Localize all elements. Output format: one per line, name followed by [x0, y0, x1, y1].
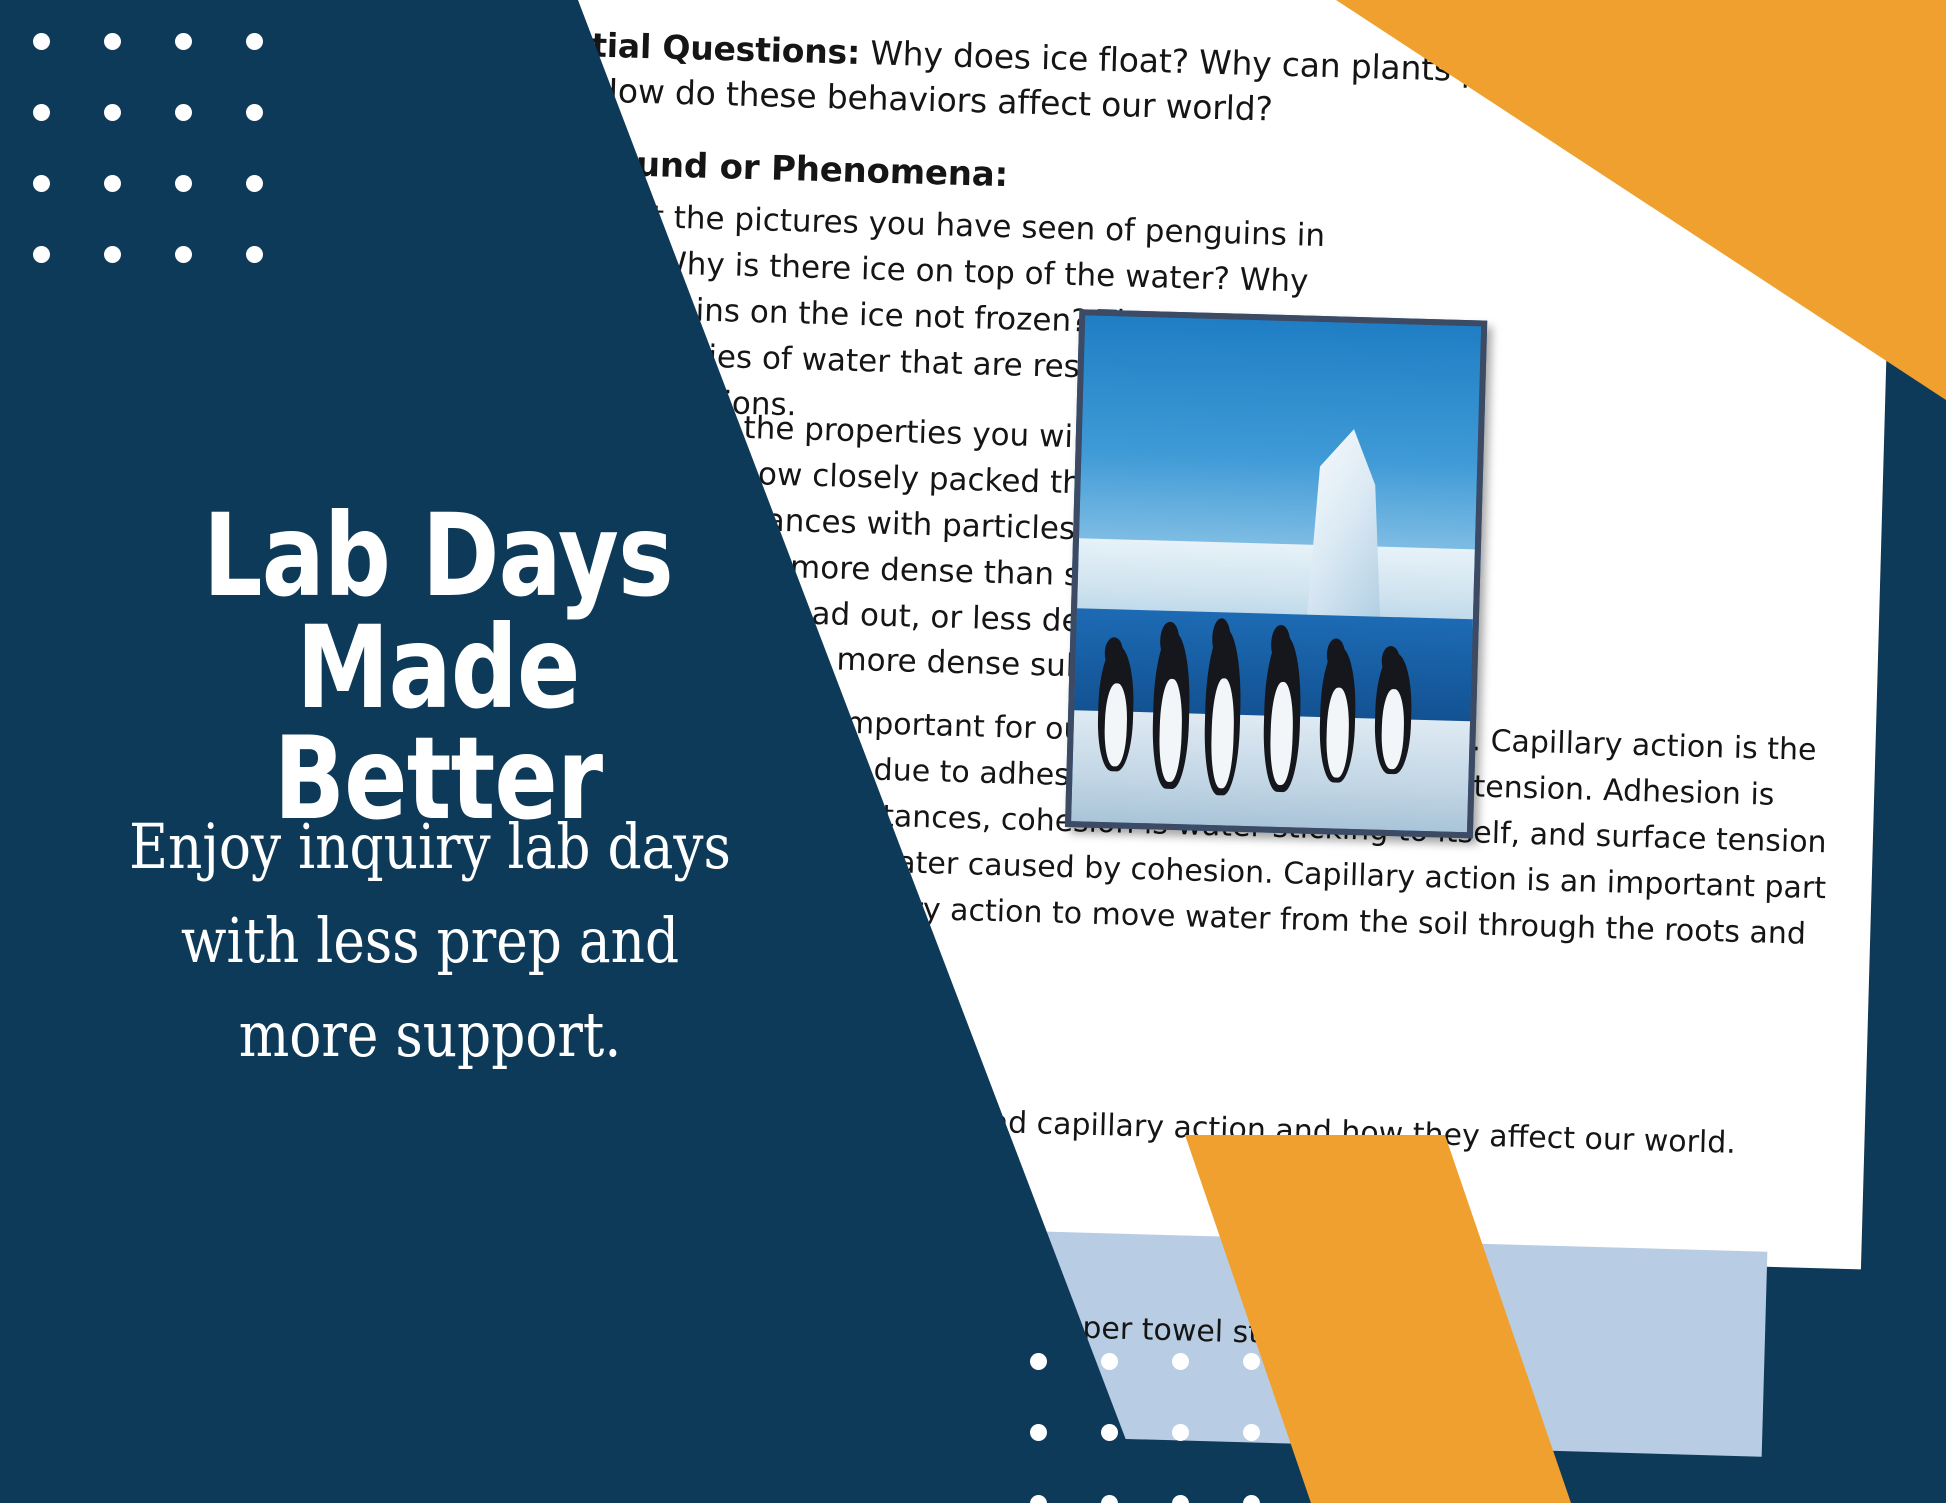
grid-dot [246, 33, 263, 50]
grid-dot [1243, 1353, 1260, 1370]
grid-dot [175, 246, 192, 263]
grid-dot [1030, 1353, 1047, 1370]
grid-dot [33, 246, 50, 263]
grid-dot [33, 104, 50, 121]
grid-dot [1172, 1424, 1189, 1441]
grid-dot [1101, 1424, 1118, 1441]
grid-dot [246, 175, 263, 192]
grid-dot [1172, 1495, 1189, 1503]
grid-dot [246, 104, 263, 121]
grid-dot [1172, 1353, 1189, 1370]
page-subtitle: Enjoy inquiry lab days with less prep an… [77, 800, 782, 1083]
subtitle-line-1: Enjoy inquiry lab days [77, 800, 782, 894]
subtitle-line-3: more support. [77, 988, 782, 1082]
grid-dot [33, 33, 50, 50]
photo-sky [1078, 315, 1481, 574]
grid-dot [175, 104, 192, 121]
grid-dot [104, 104, 121, 121]
grid-dot [104, 246, 121, 263]
grid-dot [104, 33, 121, 50]
grid-dot [246, 246, 263, 263]
headline-line-1: Lab Days [143, 500, 733, 612]
grid-dot [175, 175, 192, 192]
promo-graphic: Essential Questions: Why does ice float?… [0, 0, 1946, 1503]
grid-dot [1243, 1424, 1260, 1441]
grid-dot [175, 33, 192, 50]
grid-dot [1243, 1495, 1260, 1503]
penguin-photo [1065, 309, 1487, 838]
grid-dot [1030, 1424, 1047, 1441]
grid-dot [1101, 1353, 1118, 1370]
subtitle-line-2: with less prep and [77, 894, 782, 988]
grid-dot [104, 175, 121, 192]
page-title: Lab Days Made Better [143, 500, 733, 835]
grid-dot [33, 175, 50, 192]
